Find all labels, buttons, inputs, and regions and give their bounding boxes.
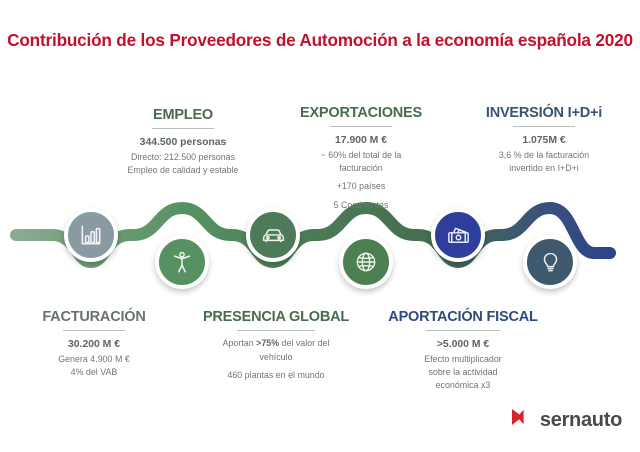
- aportacion-fiscal-line-1: sobre la actividad: [378, 366, 548, 379]
- presencia-global-heading: PRESENCIA GLOBAL: [190, 310, 362, 326]
- empleo-value: 344.500 personas: [110, 135, 256, 150]
- aportacion-fiscal-value: >5.000 M €: [378, 337, 548, 352]
- node-aportacion-fiscal[interactable]: [431, 208, 485, 262]
- globe-icon: [353, 249, 379, 275]
- aportacion-fiscal-line-0: Efecto multiplicador: [378, 353, 548, 366]
- section-inversion-idi: INVERSIÓN I+D+i 1.075M € 3,6 % de la fac…: [458, 106, 630, 175]
- section-presencia-global: PRESENCIA GLOBAL Aportan >75% del valor …: [190, 310, 362, 383]
- empleo-heading: EMPLEO: [110, 108, 256, 124]
- sernauto-logo[interactable]: sernauto: [509, 405, 622, 434]
- sernauto-wordmark: sernauto: [540, 410, 622, 430]
- node-empleo[interactable]: [155, 235, 209, 289]
- inversion-idi-value: 1.075M €: [458, 133, 630, 148]
- presencia-bold: >75%: [256, 338, 279, 348]
- money-icon: [445, 222, 472, 249]
- page-title: Contribución de los Proveedores de Autom…: [0, 30, 640, 51]
- aportacion-fiscal-line-2: económica x3: [378, 379, 548, 392]
- facturacion-line-0: Genera 4.900 M €: [18, 353, 170, 366]
- car-icon: [260, 222, 287, 249]
- facturacion-line-1: 4% del VAB: [18, 366, 170, 379]
- node-presencia-global[interactable]: [339, 235, 393, 289]
- presencia-global-line-0: Aportan >75% del valor del: [190, 337, 362, 350]
- node-inversion-idi[interactable]: [523, 235, 577, 289]
- presencia-global-line-2: 460 plantas en el mundo: [190, 369, 362, 382]
- inversion-idi-line-0: 3,6 % de la facturación: [458, 149, 630, 162]
- exportaciones-heading: EXPORTACIONES: [286, 106, 436, 122]
- aportacion-fiscal-rule: [426, 330, 500, 332]
- inversion-idi-line-1: invertido en I+D+i: [458, 162, 630, 175]
- exportaciones-value: 17.900 M €: [286, 133, 436, 148]
- node-facturacion[interactable]: [64, 208, 118, 262]
- facturacion-heading: FACTURACIÓN: [18, 310, 170, 326]
- inversion-idi-heading: INVERSIÓN I+D+i: [458, 106, 630, 122]
- lightbulb-icon: [538, 250, 563, 275]
- empleo-rule: [152, 128, 214, 130]
- empleo-line-0: Directo: 212.500 personas: [110, 151, 256, 164]
- person-icon: [169, 249, 195, 275]
- sernauto-mark-icon: [509, 405, 533, 434]
- exportaciones-line-3: 5 Continentes: [286, 199, 436, 212]
- facturacion-rule: [63, 330, 125, 332]
- presencia-post: del valor del: [279, 338, 329, 348]
- infographic-canvas: Contribución de los Proveedores de Autom…: [0, 0, 640, 452]
- aportacion-fiscal-heading: APORTACIÓN FISCAL: [378, 310, 548, 326]
- exportaciones-line-2: +170 países: [286, 180, 436, 193]
- section-aportacion-fiscal: APORTACIÓN FISCAL >5.000 M € Efecto mult…: [378, 310, 548, 393]
- exportaciones-line-0: ~ 60% del total de la: [286, 149, 436, 162]
- presencia-global-rule: [237, 330, 315, 332]
- exportaciones-line-1: facturación: [286, 162, 436, 175]
- empleo-line-1: Empleo de calidad y estable: [110, 164, 256, 177]
- bar-chart-icon: [78, 222, 104, 248]
- facturacion-value: 30.200 M €: [18, 337, 170, 352]
- presencia-pre: Aportan: [223, 338, 257, 348]
- presencia-global-line-1: vehículo: [190, 351, 362, 364]
- node-exportaciones[interactable]: [246, 208, 300, 262]
- section-empleo: EMPLEO 344.500 personas Directo: 212.500…: [110, 108, 256, 177]
- inversion-idi-rule: [513, 126, 575, 128]
- section-exportaciones: EXPORTACIONES 17.900 M € ~ 60% del total…: [286, 106, 436, 212]
- section-facturacion: FACTURACIÓN 30.200 M € Genera 4.900 M € …: [18, 310, 170, 379]
- exportaciones-rule: [330, 126, 392, 128]
